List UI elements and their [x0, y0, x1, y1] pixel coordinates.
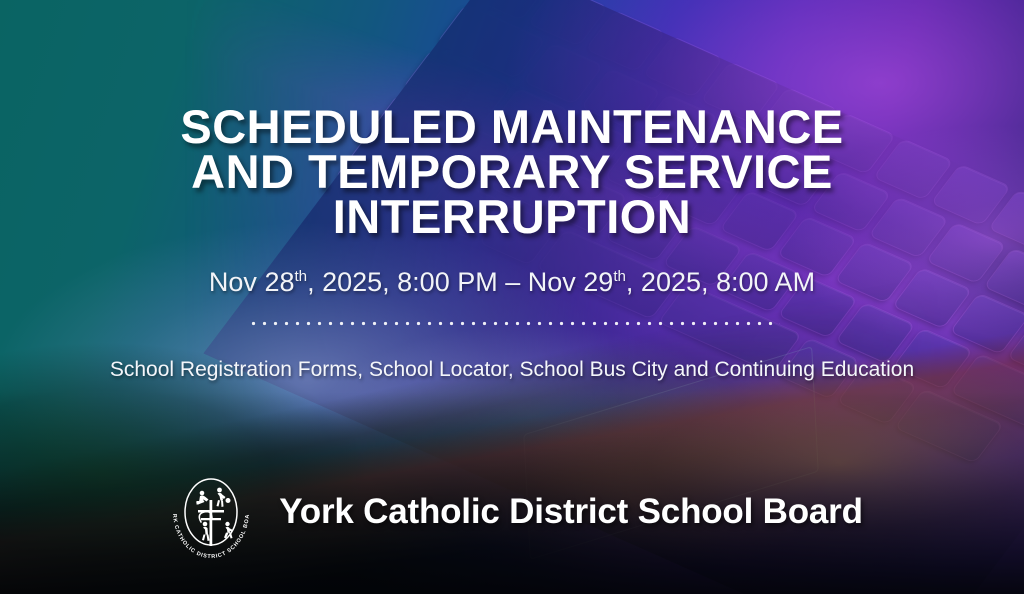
ycdsb-crest-icon: YORK CATHOLIC DISTRICT SCHOOL BOARD — [161, 462, 261, 562]
headline-line-2: AND TEMPORARY SERVICE — [70, 149, 954, 194]
headline-line-1: SCHEDULED MAINTENANCE — [70, 104, 954, 149]
headline-line-3: INTERRUPTION — [70, 194, 954, 239]
end-date-prefix: Nov 29 — [528, 267, 614, 297]
dotted-divider — [248, 321, 780, 326]
maintenance-window: Nov 28th, 2025, 8:00 PM – Nov 29th, 2025… — [0, 266, 1024, 298]
board-name: York Catholic District School Board — [279, 492, 863, 532]
end-date-suffix: , 2025, 8:00 AM — [626, 267, 815, 297]
headline: SCHEDULED MAINTENANCE AND TEMPORARY SERV… — [0, 104, 1024, 239]
date-range-separator: – — [498, 267, 528, 297]
maintenance-notice-banner: SCHEDULED MAINTENANCE AND TEMPORARY SERV… — [0, 0, 1024, 594]
affected-services-text: School Registration Forms, School Locato… — [0, 356, 1024, 384]
start-date-ordinal: th — [294, 268, 307, 285]
organization-brand-bar: YORK CATHOLIC DISTRICT SCHOOL BOARD York… — [0, 462, 1024, 562]
start-date-prefix: Nov 28 — [209, 267, 295, 297]
end-date-ordinal: th — [613, 268, 626, 285]
start-date-suffix: , 2025, 8:00 PM — [307, 267, 498, 297]
